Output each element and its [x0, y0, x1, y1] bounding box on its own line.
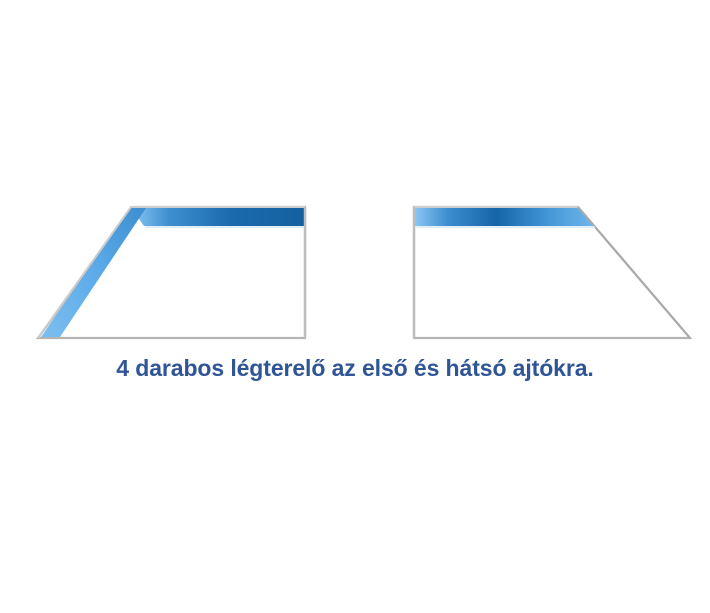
- deflector-diagram-svg: [0, 0, 710, 613]
- front-door-deflector-shape: [38, 207, 305, 338]
- product-caption: 4 darabos légterelő az első és hátsó ajt…: [0, 355, 710, 382]
- front-door-top-tint-strip: [131, 208, 304, 226]
- rear-door-deflector-shape: [414, 207, 690, 338]
- rear-door-top-tint-strip: [415, 208, 594, 226]
- product-illustration: 4 darabos légterelő az első és hátsó ajt…: [0, 0, 710, 613]
